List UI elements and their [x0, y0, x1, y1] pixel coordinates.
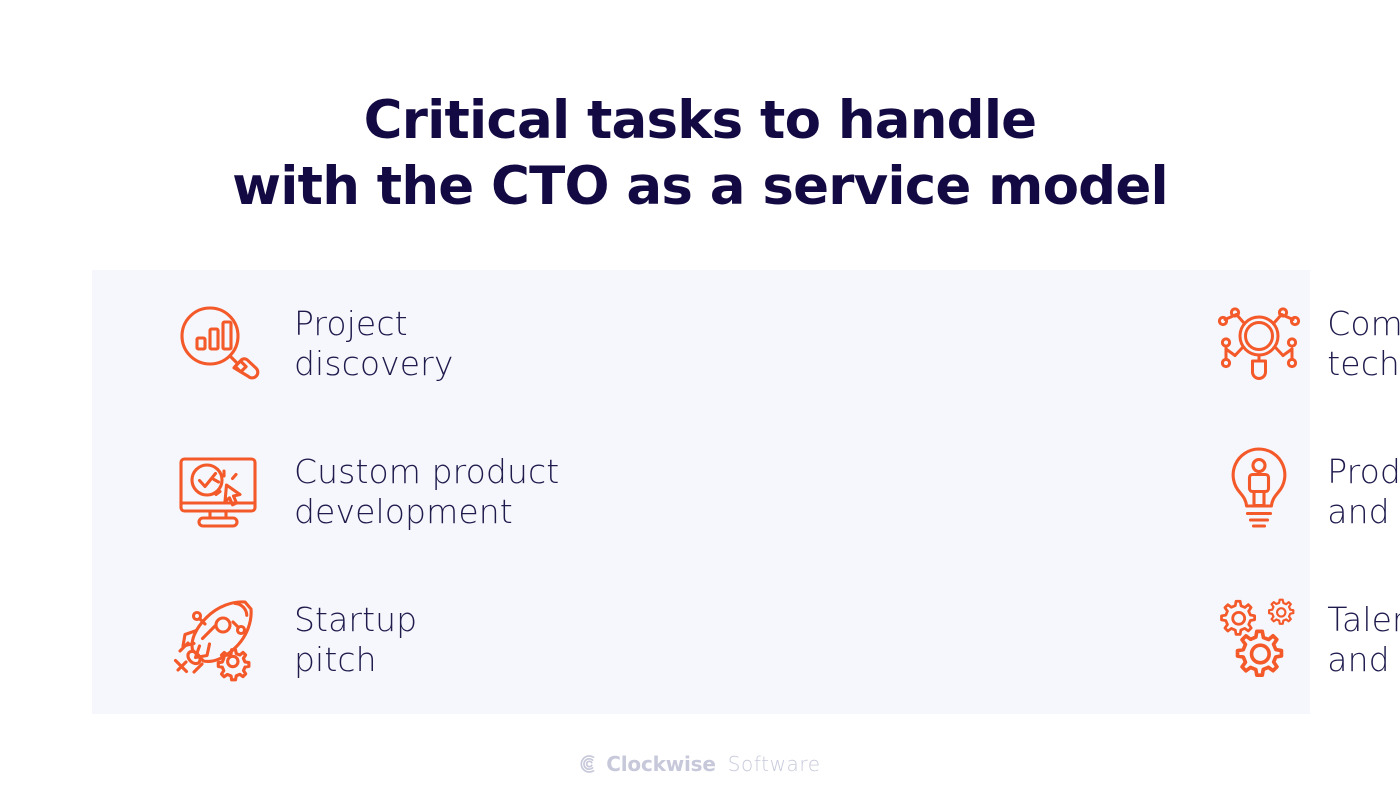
- task-label-line-2: technical audit: [1327, 344, 1400, 384]
- task-label-product-maintenance: Product maintenance and update: [1327, 452, 1400, 532]
- task-label-line-2: pitch: [294, 640, 417, 680]
- task-label-line-1: Product maintenance: [1327, 452, 1400, 492]
- page-title: Critical tasks to handle with the CTO as…: [0, 88, 1400, 220]
- task-label-talent-acquisition: Talent acquisition and team extension: [1327, 600, 1400, 680]
- task-label-line-2: discovery: [294, 344, 453, 384]
- task-label-line-1: Talent acquisition: [1327, 600, 1400, 640]
- task-item-technical-audit: Complete technical audit: [559, 270, 1400, 418]
- task-label-line-2: development: [294, 492, 559, 532]
- task-item-startup-pitch: Startup pitch: [92, 566, 559, 714]
- clockwise-swirl-icon: [579, 754, 599, 774]
- three-gears-icon: [1211, 592, 1307, 688]
- brand-name-bold: Clockwise: [606, 752, 715, 776]
- page-title-line-2: with the CTO as a service model: [0, 154, 1400, 220]
- tasks-grid: Project discovery: [92, 270, 1310, 714]
- page-title-line-1: Critical tasks to handle: [0, 88, 1400, 154]
- task-label-technical-audit: Complete technical audit: [1327, 304, 1400, 384]
- task-label-project-discovery: Project discovery: [294, 304, 453, 384]
- lightbulb-person-icon: [1211, 444, 1307, 540]
- task-item-product-maintenance: Product maintenance and update: [559, 418, 1400, 566]
- task-label-line-1: Startup: [294, 600, 417, 640]
- monitor-check-cursor-icon: [170, 444, 266, 540]
- brand-name-light: Software: [728, 752, 821, 776]
- task-label-startup-pitch: Startup pitch: [294, 600, 417, 680]
- task-label-line-2: and update: [1327, 492, 1400, 532]
- task-label-line-1: Complete: [1327, 304, 1400, 344]
- task-label-line-1: Custom product: [294, 452, 559, 492]
- task-label-line-1: Project: [294, 304, 453, 344]
- magnifier-bar-chart-icon: [170, 296, 266, 392]
- tasks-panel: Project discovery: [92, 270, 1310, 714]
- magnifier-network-nodes-icon: [1211, 296, 1307, 392]
- task-item-talent-acquisition: Talent acquisition and team extension: [559, 566, 1400, 714]
- task-item-custom-product-development: Custom product development: [92, 418, 559, 566]
- footer-logo: Clockwise Software: [0, 752, 1400, 776]
- task-item-project-discovery: Project discovery: [92, 270, 559, 418]
- task-label-custom-product-development: Custom product development: [294, 452, 559, 532]
- rocket-gear-icon: [170, 592, 266, 688]
- task-label-line-2: and team extension: [1327, 640, 1400, 680]
